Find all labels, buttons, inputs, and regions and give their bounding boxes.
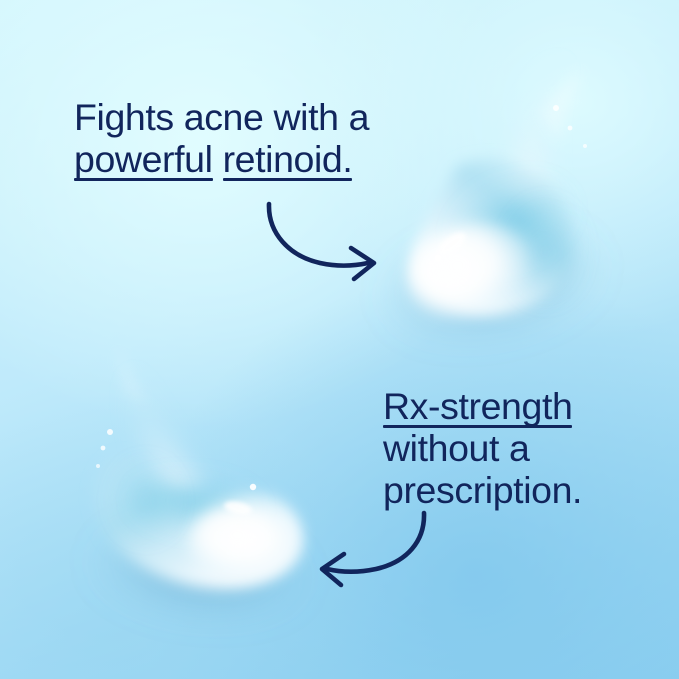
emphasis-retinoid: retinoid. bbox=[223, 138, 353, 180]
callout-line-2: powerful retinoid. bbox=[74, 138, 369, 180]
callout-line-2: without a bbox=[383, 427, 582, 469]
emphasis-powerful: powerful bbox=[74, 138, 213, 180]
callout-line-1: Rx-strength bbox=[383, 385, 582, 427]
emphasis-rx-strength: Rx-strength bbox=[383, 385, 572, 427]
curved-arrow-down-left-icon bbox=[322, 513, 424, 585]
curved-arrow-down-right-icon bbox=[269, 204, 374, 279]
callout-acne-retinoid: Fights acne with a powerful retinoid. bbox=[74, 96, 369, 180]
callout-rx-strength: Rx-strength without a prescription. bbox=[383, 385, 582, 511]
promo-canvas: Fights acne with a powerful retinoid. Rx… bbox=[0, 0, 679, 679]
callout-line-1: Fights acne with a bbox=[74, 96, 369, 138]
word-space bbox=[213, 138, 223, 180]
callout-line-3: prescription. bbox=[383, 469, 582, 511]
